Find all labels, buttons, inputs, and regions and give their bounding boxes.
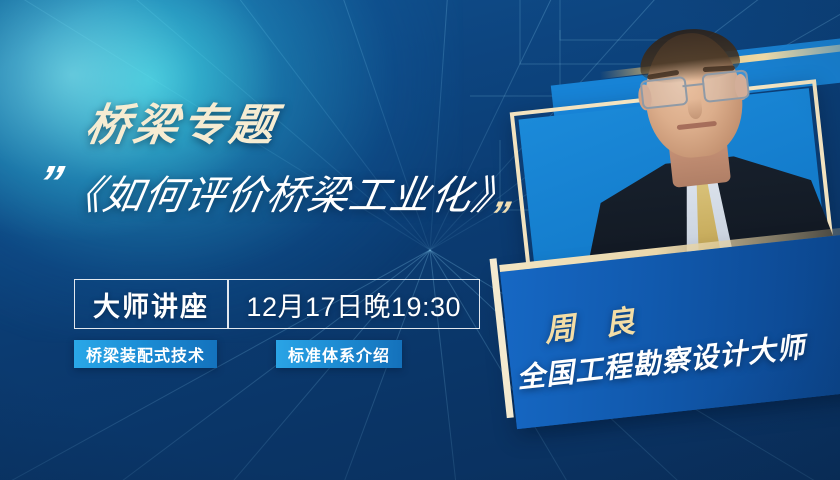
lecture-date: 12月17日晚19:30 [229, 285, 480, 324]
topic-tag-list: 桥梁装配式技术 标准体系介绍 [74, 340, 402, 368]
lecture-info-box: 大师讲座 12月17日晚19:30 [74, 279, 480, 329]
lecture-label: 大师讲座 [75, 285, 227, 324]
page-title: 桥梁专题 [83, 104, 282, 148]
topic-tag[interactable]: 标准体系介绍 [276, 340, 402, 368]
lecture-poster: 周 良 全国工程勘察设计大师 桥梁专题 ” 《如何评价桥梁工业化》 ” 大师讲座… [0, 0, 840, 480]
page-subtitle: 《如何评价桥梁工业化》 [58, 176, 516, 216]
topic-tag[interactable]: 桥梁装配式技术 [74, 340, 217, 368]
